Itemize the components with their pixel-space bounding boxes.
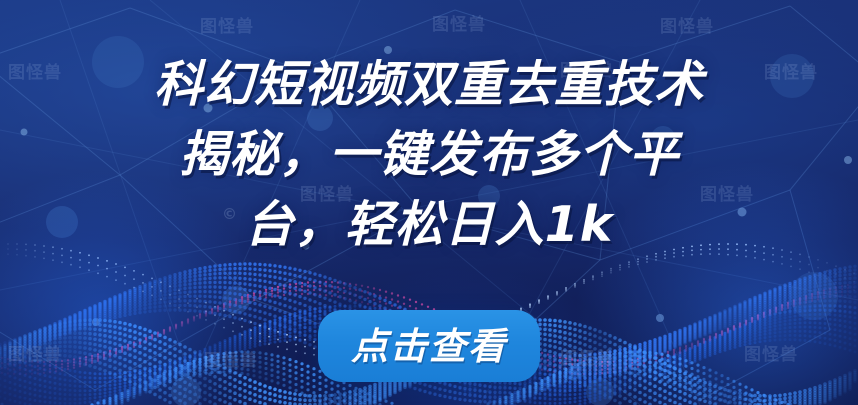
cta-container: 点击查看 [0,310,858,382]
headline-block: 科幻短视频双重去重技术 揭秘，一键发布多个平 台，轻松日入1k [0,50,858,260]
brand-watermark: 图怪兽 [200,12,254,37]
headline-line-3: 台，轻松日入1k [28,190,830,260]
headline-line-1: 科幻短视频双重去重技术 [28,50,830,120]
headline-line-2: 揭秘，一键发布多个平 [28,120,830,190]
brand-watermark: 图怪兽 [432,10,486,35]
cta-label: 点击查看 [351,328,507,365]
view-details-button[interactable]: 点击查看 [318,310,540,382]
brand-watermark: 图怪兽 [660,12,714,37]
promo-poster: 图怪兽图怪兽图怪兽图怪兽图怪兽图怪兽©©图怪兽图怪兽图怪兽图怪兽图怪兽图怪兽图怪… [0,0,858,405]
